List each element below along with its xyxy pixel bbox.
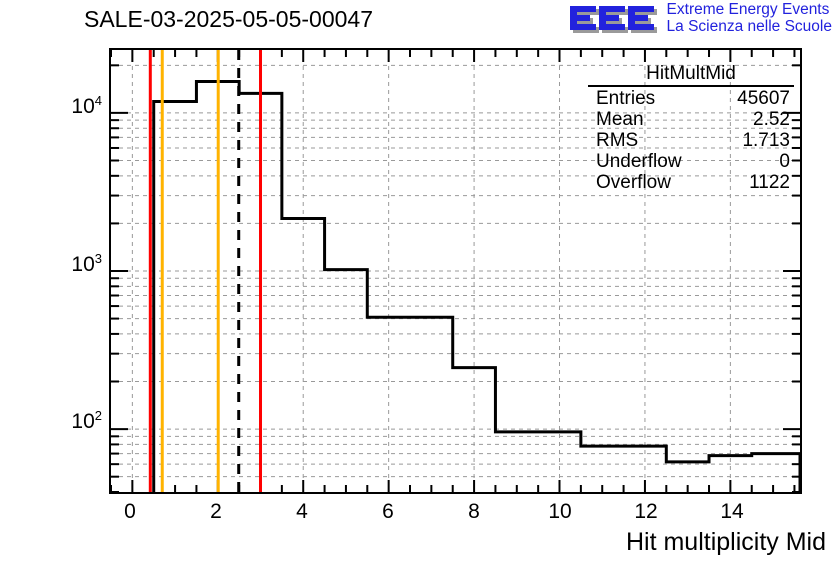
stats-row-mean: Mean 2.52 [588,109,794,130]
stats-key-mean: Mean [596,110,644,129]
stats-key-underflow: Underflow [596,152,682,171]
x-tick-label-6: 6 [368,500,408,524]
stats-row-rms: RMS 1.713 [588,130,794,151]
x-tick-label-2: 2 [196,500,236,524]
y-tick-label-1e3: 103 [44,251,102,277]
x-tick-label-0: 0 [110,500,150,524]
stats-row-entries: Entries 45607 [588,88,794,109]
stats-box: HitMultMid Entries 45607 Mean 2.52 RMS 1… [588,64,794,193]
x-tick-label-8: 8 [454,500,494,524]
stats-value-mean: 2.52 [753,110,790,129]
stats-value-rms: 1.713 [742,131,790,150]
stats-key-entries: Entries [596,89,655,108]
stats-key-rms: RMS [596,131,638,150]
stats-value-underflow: 0 [779,152,790,171]
eee-logo: Extreme Energy Events La Scienza nelle S… [569,2,832,38]
root-canvas: SALE-03-2025-05-05-00047 [0,0,836,572]
x-axis-title: Hit multiplicity Mid [626,528,826,557]
x-tick-label-14: 14 [712,500,752,524]
eee-logo-line1: Extreme Energy Events [667,2,832,19]
stats-value-overflow: 1122 [749,173,790,192]
stats-row-overflow: Overflow 1122 [588,172,794,193]
stats-box-title: HitMultMid [588,64,794,87]
stats-value-entries: 45607 [737,89,790,108]
x-tick-label-12: 12 [626,500,666,524]
y-tick-label-1e4: 104 [44,93,102,119]
x-tick-label-4: 4 [282,500,322,524]
eee-logo-line2: La Scienza nelle Scuole [667,19,832,36]
stats-row-underflow: Underflow 0 [588,151,794,172]
x-tick-label-10: 10 [540,500,580,524]
stats-key-overflow: Overflow [596,173,671,192]
eee-logo-text: Extreme Energy Events La Scienza nelle S… [667,2,832,35]
eee-logo-mark-icon [569,4,661,38]
page-title: SALE-03-2025-05-05-00047 [84,6,373,33]
y-tick-label-1e2: 102 [44,408,102,434]
